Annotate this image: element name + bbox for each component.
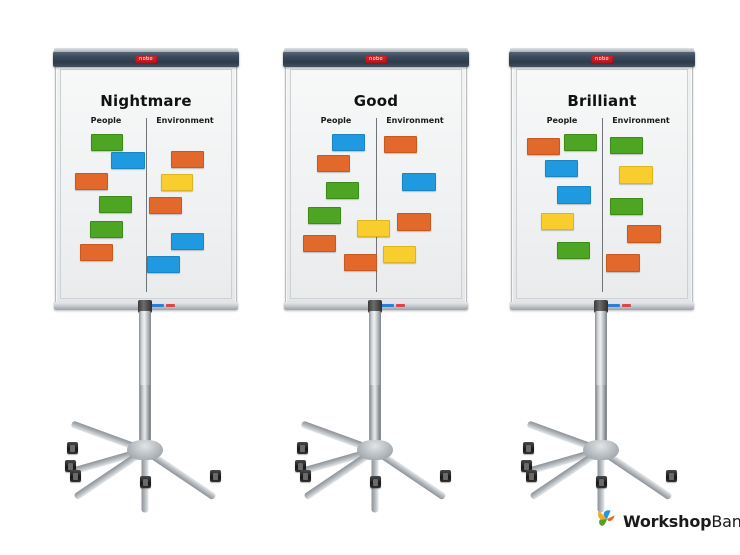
sticky-note-orange[interactable]	[606, 254, 640, 272]
whiteboard-writing-area: Good People Environment	[290, 69, 462, 299]
sticky-note-orange[interactable]	[75, 173, 108, 190]
flipchart-stand	[285, 300, 465, 518]
caster-wheel	[596, 476, 607, 488]
whiteboard-surface: Good People Environment nobo	[285, 48, 467, 308]
column-header-people: People	[67, 116, 145, 125]
sticky-note-blue[interactable]	[111, 152, 145, 169]
column-header-environment: Environment	[599, 116, 683, 125]
flipchart-stand	[511, 300, 691, 518]
stand-hub	[357, 440, 393, 460]
caster-wheel	[300, 470, 311, 482]
caster-wheel	[666, 470, 677, 482]
sticky-note-green[interactable]	[610, 198, 643, 215]
sticky-note-orange[interactable]	[344, 254, 377, 271]
sticky-note-orange[interactable]	[171, 151, 204, 168]
sticky-note-orange[interactable]	[303, 235, 336, 252]
whiteboard-top-rail: nobo	[509, 51, 695, 67]
caster-wheel	[370, 476, 381, 488]
whiteboard-surface: Brilliant People Environment nobo	[511, 48, 693, 308]
flipchart-good: Good People Environment nobo	[285, 48, 465, 468]
sticky-note-green[interactable]	[99, 196, 132, 213]
butterfly-icon	[597, 509, 618, 533]
sticky-note-yellow[interactable]	[619, 166, 653, 184]
whiteboard-top-rail: nobo	[53, 51, 239, 67]
sticky-note-green[interactable]	[610, 137, 643, 154]
flipchart-nightmare: Nightmare People Environment nobo	[55, 48, 235, 468]
caster-wheel	[526, 470, 537, 482]
stand-hub	[127, 440, 163, 460]
logo-word-workshop: Workshop	[623, 512, 711, 531]
poster-canvas: Nightmare People Environment nobo	[0, 0, 740, 555]
nobo-brand-badge: nobo	[591, 55, 613, 64]
sticky-note-yellow[interactable]	[383, 246, 416, 263]
column-header-people: People	[297, 116, 375, 125]
sticky-note-green[interactable]	[308, 207, 341, 224]
caster-wheel	[297, 442, 308, 454]
sticky-note-green[interactable]	[91, 134, 123, 151]
sticky-note-green[interactable]	[90, 221, 123, 238]
sticky-note-yellow[interactable]	[161, 174, 193, 191]
nobo-brand-badge: nobo	[135, 55, 157, 64]
column-header-people: People	[523, 116, 601, 125]
sticky-note-green[interactable]	[557, 242, 590, 259]
sticky-note-orange[interactable]	[397, 213, 431, 231]
sticky-note-orange[interactable]	[149, 197, 182, 214]
flipchart-title: Nightmare	[61, 92, 231, 110]
flipchart-stand	[55, 300, 235, 518]
whiteboard-surface: Nightmare People Environment nobo	[55, 48, 237, 308]
flipchart-title: Good	[291, 92, 461, 110]
sticky-note-blue[interactable]	[545, 160, 578, 177]
caster-wheel	[70, 470, 81, 482]
column-header-environment: Environment	[373, 116, 457, 125]
column-divider-line	[602, 118, 603, 292]
whiteboard-writing-area: Nightmare People Environment	[60, 69, 232, 299]
whiteboard-writing-area: Brilliant People Environment	[516, 69, 688, 299]
sticky-note-orange[interactable]	[527, 138, 560, 155]
caster-wheel	[140, 476, 151, 488]
workshopbank-logo[interactable]: WorkshopBank	[597, 509, 740, 533]
stand-hub	[583, 440, 619, 460]
nobo-brand-badge: nobo	[365, 55, 387, 64]
caster-wheel	[210, 470, 221, 482]
caster-wheel	[440, 470, 451, 482]
whiteboard-top-rail: nobo	[283, 51, 469, 67]
sticky-note-yellow[interactable]	[541, 213, 574, 230]
sticky-note-orange[interactable]	[317, 155, 350, 172]
sticky-note-blue[interactable]	[557, 186, 591, 204]
logo-wordmark: WorkshopBank	[623, 512, 740, 531]
caster-wheel	[67, 442, 78, 454]
sticky-note-orange[interactable]	[384, 136, 417, 153]
logo-word-bank: Bank	[711, 512, 740, 531]
sticky-note-blue[interactable]	[147, 256, 180, 273]
caster-wheel	[523, 442, 534, 454]
column-header-environment: Environment	[143, 116, 227, 125]
sticky-note-green[interactable]	[564, 134, 597, 151]
sticky-note-green[interactable]	[326, 182, 359, 199]
sticky-note-yellow[interactable]	[357, 220, 390, 237]
sticky-note-orange[interactable]	[627, 225, 661, 243]
sticky-note-blue[interactable]	[402, 173, 436, 191]
sticky-note-blue[interactable]	[171, 233, 204, 250]
flipchart-title: Brilliant	[517, 92, 687, 110]
sticky-note-blue[interactable]	[332, 134, 365, 151]
flipchart-brilliant: Brilliant People Environment nobo	[511, 48, 691, 468]
sticky-note-orange[interactable]	[80, 244, 113, 261]
